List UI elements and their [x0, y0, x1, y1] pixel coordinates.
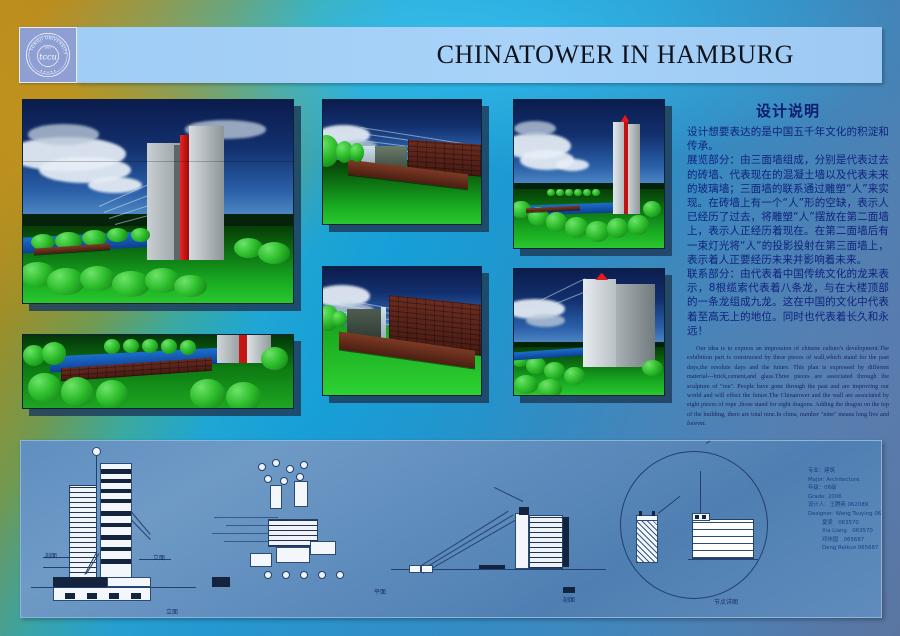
render-distant-tower-view — [513, 99, 665, 249]
description-cn-p1: 设计想要表达的是中国五千年文化的积淀和传承。 — [687, 125, 889, 153]
render-three-walls-view-b — [322, 266, 482, 396]
credit-grade-cn: 年级：06级 — [808, 484, 882, 493]
svg-text:1907: 1907 — [44, 45, 51, 49]
drawings-panel: 剖面 立面 立面 — [20, 440, 882, 618]
render-image — [513, 268, 665, 396]
poster-canvas: TONGJI UNIVERSITY 1907 tccu CHINATOWER I… — [0, 0, 900, 636]
credit-designer-3-en: Deng Reikuo 065687 — [808, 544, 882, 553]
render-main-tower-perspective — [22, 99, 294, 304]
credit-designer-2-en: Xia Liang 063570 — [808, 527, 882, 536]
svg-text:tccu: tccu — [39, 51, 57, 61]
section-title-label: 剖面 — [563, 595, 575, 604]
render-image — [322, 266, 482, 396]
designer-1-name-en: Wang Tsuying — [836, 511, 873, 517]
description-title: 设计说明 — [687, 100, 889, 121]
designer-1-id-b: 062089 — [874, 511, 882, 517]
credit-major-cn: 专业：建筑 — [808, 467, 882, 476]
render-three-walls-view-a — [322, 99, 482, 225]
designer-2-name-en: Xia Liang — [822, 528, 847, 534]
render-image — [322, 99, 482, 225]
description-cn-p2: 展览部分：由三面墙组成，分别是代表过去的砖墙、代表现在的混凝土墙以及代表未来的玻… — [687, 153, 889, 267]
credit-designer-2-cn: 夏梁 063570 — [808, 519, 882, 528]
credit-grade-en: Grade: 2006 — [808, 493, 882, 502]
render-image — [513, 99, 665, 249]
description-chinese: 设计想要表达的是中国五千年文化的积淀和传承。 展览部分：由三面墙组成，分别是代表… — [687, 125, 889, 338]
designer-2-name-cn: 夏梁 — [822, 520, 833, 526]
designer-3-id-a: 065687 — [844, 537, 865, 543]
title-banner: CHINATOWER IN HAMBURG — [77, 27, 882, 83]
drawing-elevation: 剖面 立面 立面 — [21, 441, 206, 618]
render-image — [22, 334, 294, 409]
drawing-section: 剖面 — [391, 441, 606, 618]
credit-designer-1-cn: 设计人：王腾英 062089 — [808, 501, 882, 510]
description-cn-p3: 联系部分：由代表着中国传统文化的龙来表示，8根缆索代表着八条龙，与在大楼顶部的一… — [687, 267, 889, 338]
credit-designer-3-cn: 邓伟国 065687 — [808, 536, 882, 545]
elevation-title-label: 立面 — [166, 607, 178, 616]
designer-3-name-en: Deng Reikuo — [822, 545, 856, 551]
elevation-leader-label-b: 立面 — [153, 553, 165, 562]
detail-title-label: 节点详图 — [714, 597, 738, 606]
design-description-panel: 设计说明 设计想要表达的是中国五千年文化的积淀和传承。 展览部分：由三面墙组成，… — [683, 96, 893, 434]
designer-2-id-a: 063570 — [838, 520, 859, 526]
credits-block: 专业：建筑 Major: Architecture 年级：06级 Grade: … — [806, 441, 882, 618]
credit-major-en: Major: Architecture — [808, 476, 882, 485]
designer-3-name-cn: 邓伟国 — [822, 537, 838, 543]
credit-designer-1-en: Designer: Wang Tsuying 062089 — [808, 510, 882, 519]
page-title: CHINATOWER IN HAMBURG — [437, 40, 794, 70]
designer-2-id-b: 063570 — [852, 528, 873, 534]
render-tower-corner-view — [513, 268, 665, 396]
designer-1-name-cn: 王腾英 — [830, 502, 846, 508]
designer-1-id-a: 062089 — [847, 502, 868, 508]
university-logo: TONGJI UNIVERSITY 1907 tccu — [19, 27, 77, 83]
render-riverside-bridge-view — [22, 334, 294, 409]
university-seal-icon: TONGJI UNIVERSITY 1907 tccu — [24, 31, 72, 79]
plan-title-label: 平面 — [374, 587, 386, 596]
designer-label-cn: 设计人： — [808, 502, 830, 508]
designer-3-id-b: 065687 — [858, 545, 879, 551]
render-image — [22, 99, 294, 304]
designer-label-en: Designer: — [808, 511, 834, 517]
elevation-leader-label-a: 剖面 — [45, 551, 57, 560]
drawing-plan: 平面 — [206, 441, 391, 618]
drawing-detail: 节点详图 — [606, 441, 806, 618]
poster-header: TONGJI UNIVERSITY 1907 tccu CHINATOWER I… — [0, 0, 900, 90]
description-english: Our idea is to express an impression of … — [687, 344, 889, 429]
